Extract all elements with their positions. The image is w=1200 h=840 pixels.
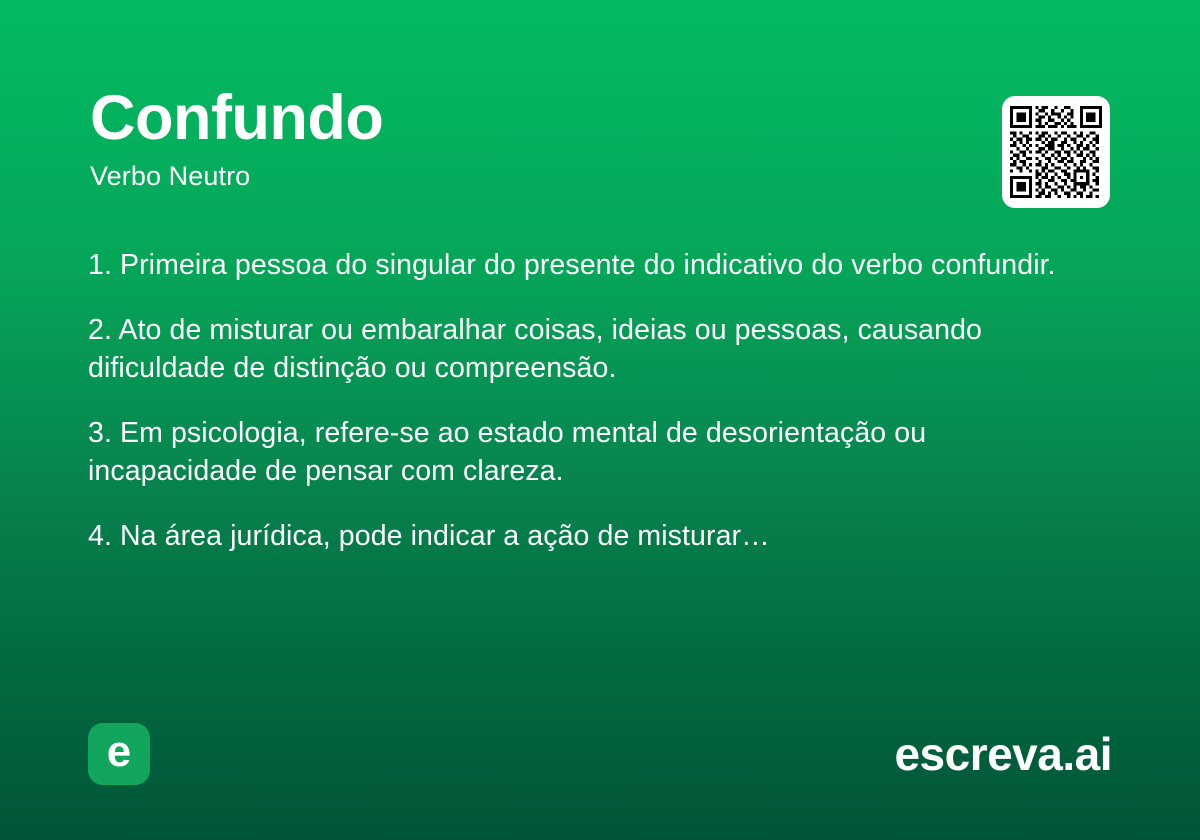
dictionary-card: Confundo Verbo Neutro bbox=[0, 0, 1200, 840]
qr-code-icon bbox=[1010, 105, 1102, 199]
definition-list: 1. Primeira pessoa do singular do presen… bbox=[88, 246, 1113, 555]
list-item: 4. Na área jurídica, pode indicar a ação… bbox=[88, 517, 1073, 555]
brand-wordmark: escreva.ai bbox=[894, 729, 1112, 779]
logo-letter: e bbox=[107, 730, 131, 774]
escreva-logo-icon: e bbox=[88, 723, 150, 785]
page-title: Confundo bbox=[90, 84, 1110, 152]
list-item: 2. Ato de misturar ou embaralhar coisas,… bbox=[88, 311, 1113, 387]
card-footer: e escreva.ai bbox=[88, 723, 1112, 785]
list-item: 1. Primeira pessoa do singular do presen… bbox=[88, 246, 1113, 284]
word-class-label: Verbo Neutro bbox=[90, 160, 1110, 192]
list-item: 3. Em psicologia, refere-se ao estado me… bbox=[88, 414, 1073, 490]
qr-code-container[interactable] bbox=[1002, 96, 1110, 208]
card-header: Confundo Verbo Neutro bbox=[90, 84, 1110, 214]
